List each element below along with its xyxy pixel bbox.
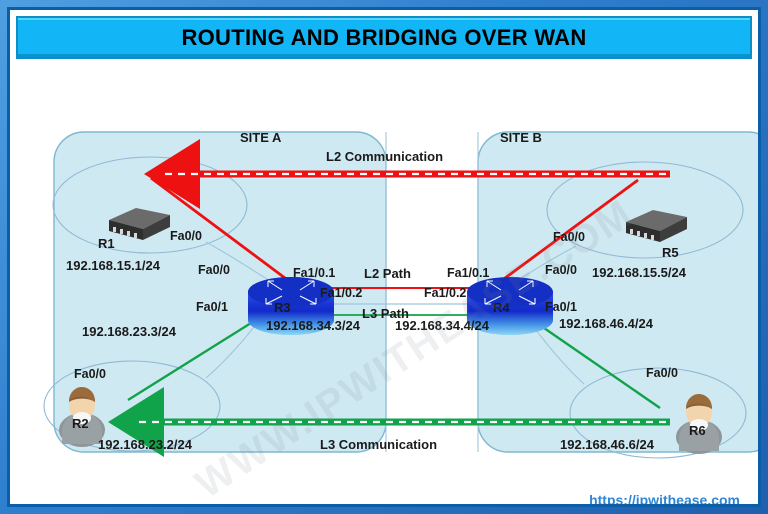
r2-iface-label: Fa0/0 xyxy=(74,367,106,381)
r5-iface-label: Fa0/0 xyxy=(553,230,585,244)
r1-ip-label: 192.168.15.1/24 xyxy=(66,258,160,273)
r3-lan-ip-label: 192.168.23.3/24 xyxy=(82,324,176,339)
r2-ip-label: 192.168.23.2/24 xyxy=(98,437,192,452)
r4-fa1-02-label: Fa1/0.2 xyxy=(424,286,466,300)
r1-iface-label: Fa0/0 xyxy=(170,229,202,243)
r2-label: R2 xyxy=(72,416,89,431)
l2-path-label: L2 Path xyxy=(364,266,411,281)
r3-fa1-02-label: Fa1/0.2 xyxy=(320,286,362,300)
r3-ip-label: 192.168.34.3/24 xyxy=(266,318,360,333)
r4-fa01-label: Fa0/1 xyxy=(545,300,577,314)
site-a-label: SITE A xyxy=(240,130,281,145)
network-diagram: SITE A SITE B L2 Communication L3 Commun… xyxy=(10,60,758,507)
r4-lan-ip-label: 192.168.46.4/24 xyxy=(559,316,653,331)
title-bar: ROUTING AND BRIDGING OVER WAN xyxy=(16,16,752,59)
page-title: ROUTING AND BRIDGING OVER WAN xyxy=(181,25,586,51)
r3-label: R3 xyxy=(274,300,291,315)
footer-url[interactable]: https://ipwithease.com xyxy=(589,492,740,507)
r4-label: R4 xyxy=(493,300,510,315)
r5-ip-label: 192.168.15.5/24 xyxy=(592,265,686,280)
r3-fa00-label: Fa0/0 xyxy=(198,263,230,277)
l3-communication-label: L3 Communication xyxy=(320,437,437,452)
r4-fa00-label: Fa0/0 xyxy=(545,263,577,277)
poster-frame: ROUTING AND BRIDGING OVER WAN xyxy=(0,0,768,514)
r6-label: R6 xyxy=(689,423,706,438)
r5-label: R5 xyxy=(662,245,679,260)
r6-iface-label: Fa0/0 xyxy=(646,366,678,380)
l2-communication-label: L2 Communication xyxy=(326,149,443,164)
r3-fa01-label: Fa0/1 xyxy=(196,300,228,314)
site-b-label: SITE B xyxy=(500,130,542,145)
r6-ip-label: 192.168.46.6/24 xyxy=(560,437,654,452)
r4-fa1-01-label: Fa1/0.1 xyxy=(447,266,489,280)
r1-label: R1 xyxy=(98,236,115,251)
r3-fa1-01-label: Fa1/0.1 xyxy=(293,266,335,280)
poster-inner: ROUTING AND BRIDGING OVER WAN xyxy=(7,7,761,507)
r4-ip-label: 192.168.34.4/24 xyxy=(395,318,489,333)
